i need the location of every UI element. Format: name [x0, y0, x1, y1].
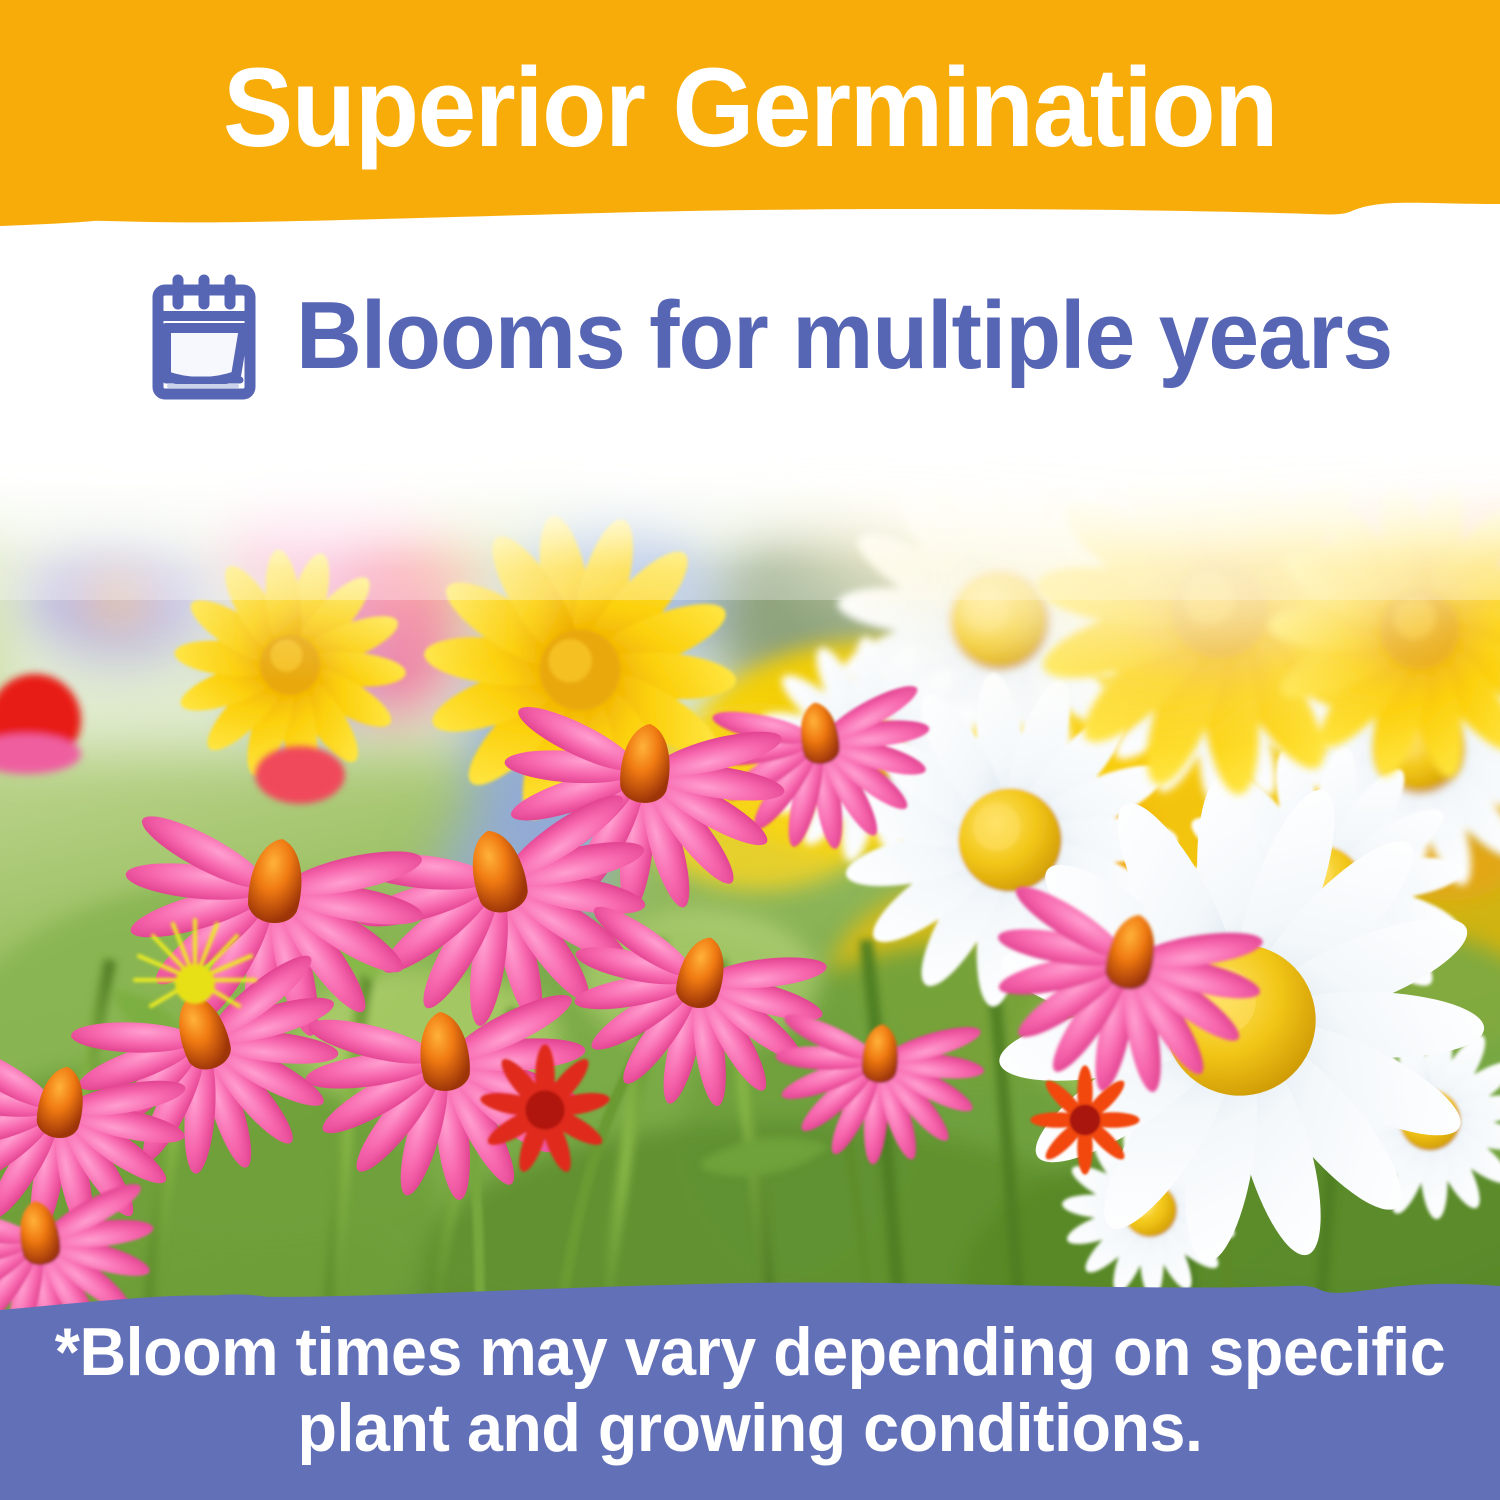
footer-line-1: *Bloom times may vary depending on speci… [55, 1314, 1445, 1390]
header-title: Superior Germination [45, 52, 1455, 164]
calendar-icon [136, 268, 296, 404]
footer-banner: *Bloom times may vary depending on speci… [0, 1262, 1500, 1500]
feature-label: Blooms for multiple years [296, 288, 1392, 384]
infographic-page: Superior Germination [0, 0, 1500, 1500]
footer-line-2: plant and growing conditions. [38, 1390, 1463, 1466]
feature-row: Blooms for multiple years [0, 232, 1500, 440]
wildflower-photo [0, 420, 1500, 1320]
footer-disclaimer: *Bloom times may vary depending on speci… [38, 1314, 1463, 1466]
header-banner: Superior Germination [0, 0, 1500, 232]
